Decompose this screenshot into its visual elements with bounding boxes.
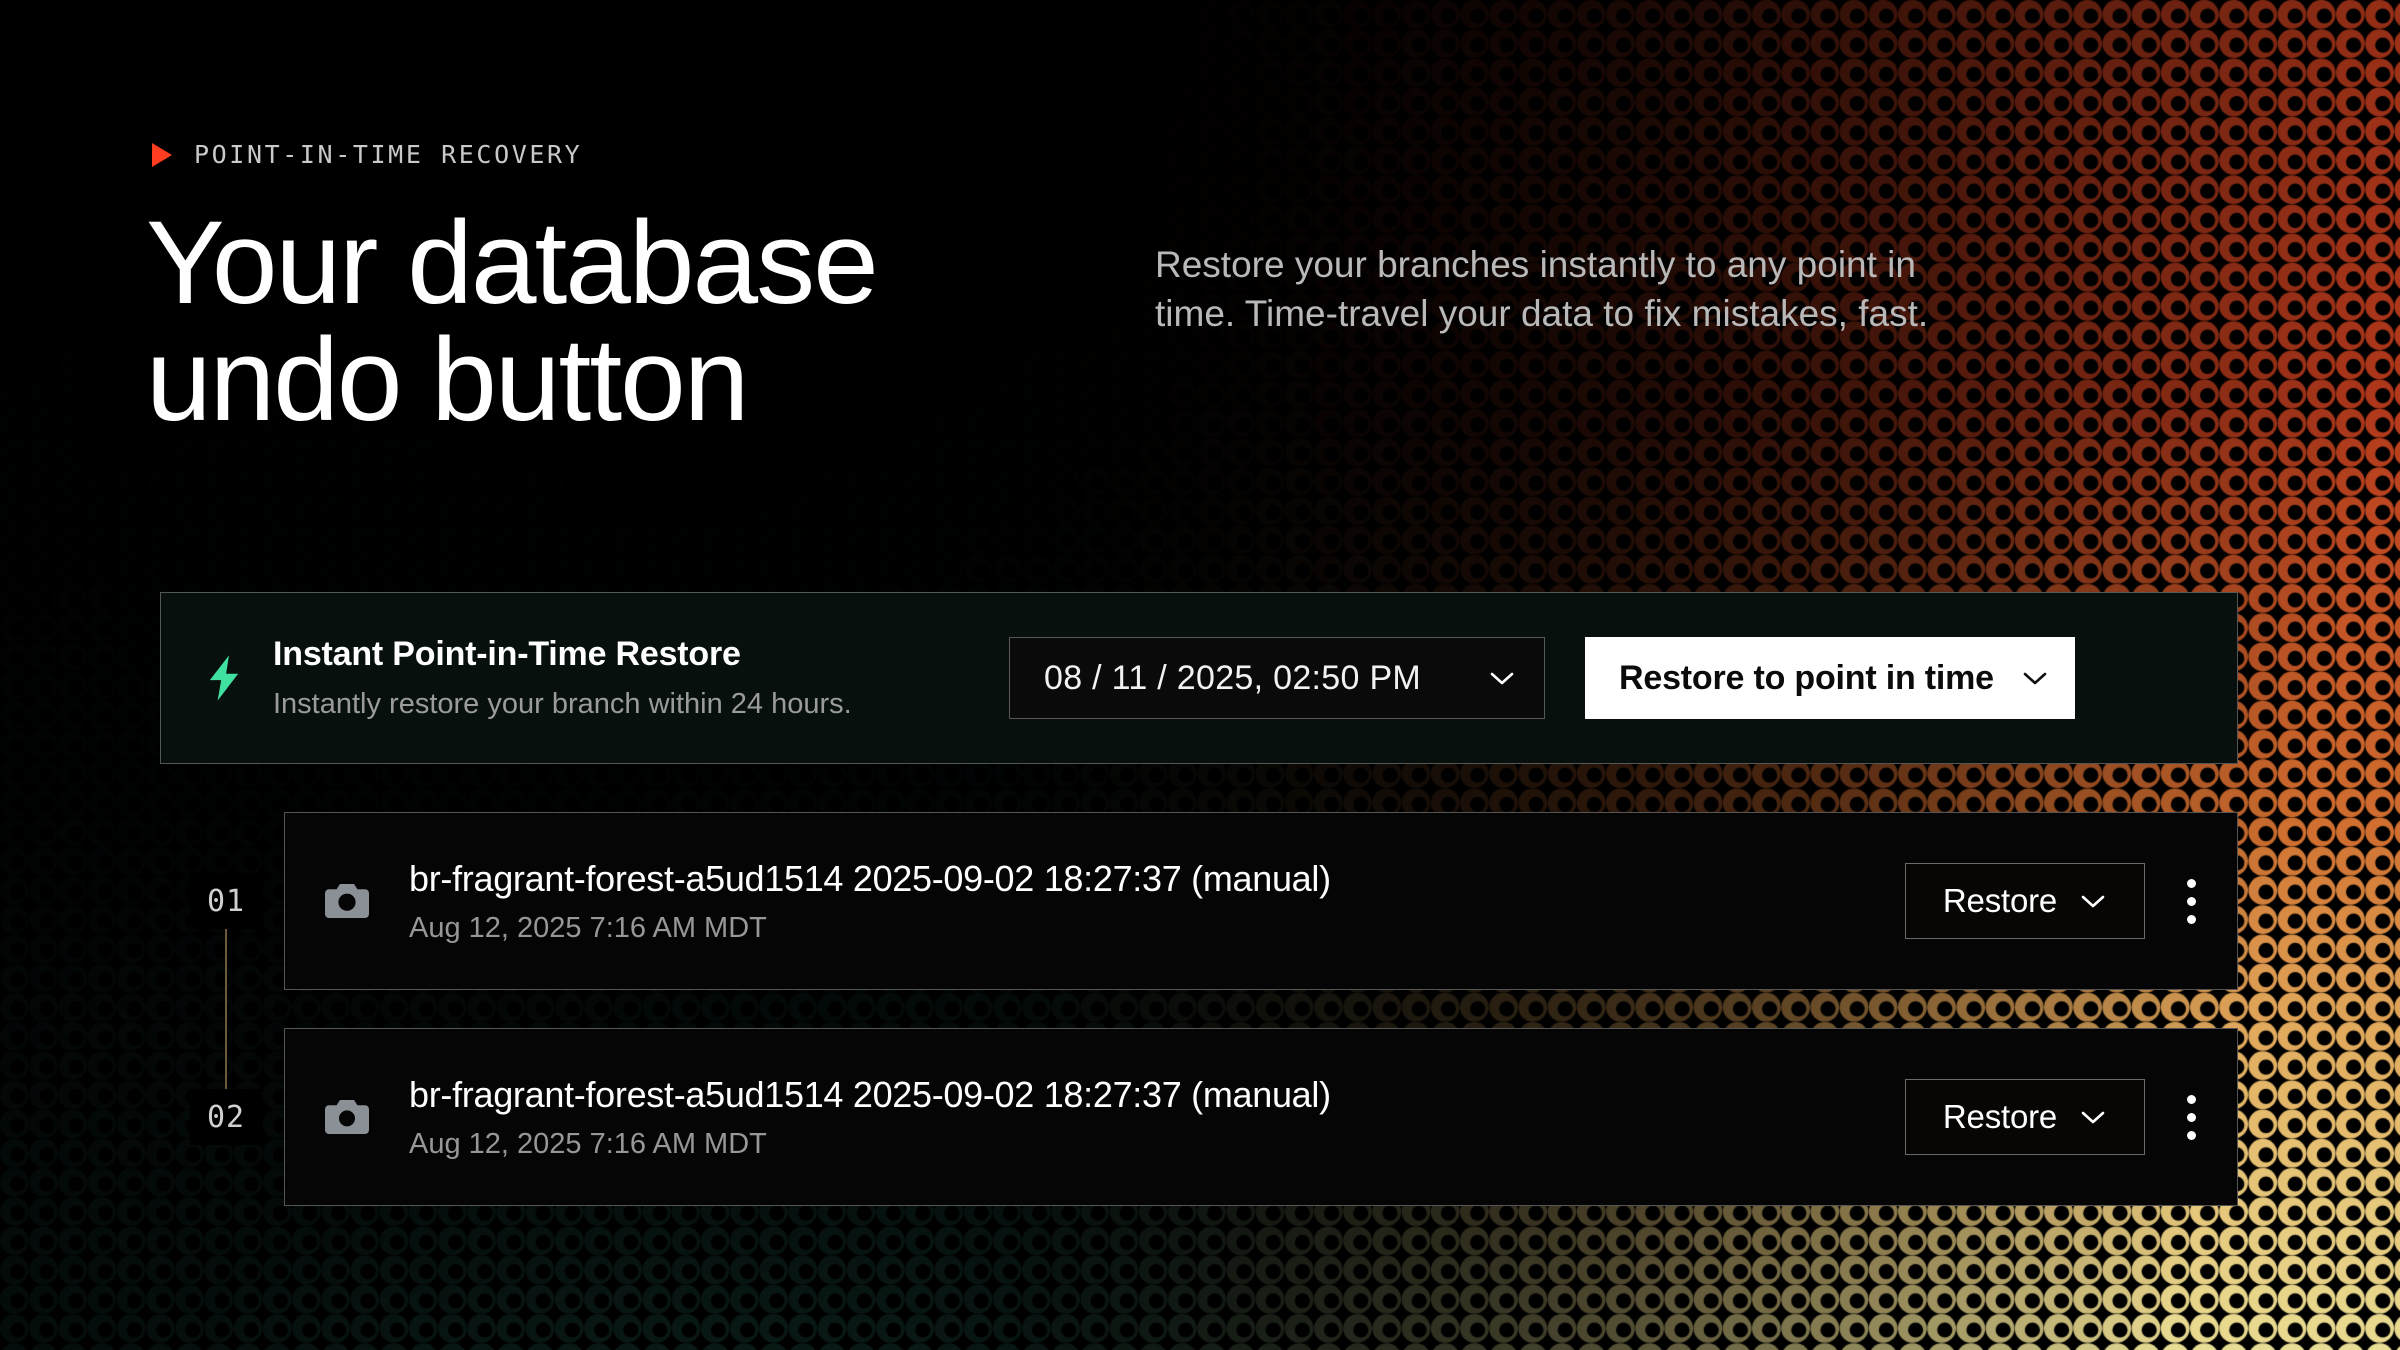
snapshot-timestamp: Aug 12, 2025 7:16 AM MDT [409, 1128, 1905, 1161]
step-index-label: 01 [207, 884, 245, 919]
camera-icon [285, 882, 409, 920]
instant-restore-subtitle: Instantly restore your branch within 24 … [273, 688, 1003, 721]
kebab-dot [2187, 915, 2196, 924]
instant-restore-text-block: Instant Point-in-Time Restore Instantly … [273, 635, 1003, 721]
eyebrow-label: POINT-IN-TIME RECOVERY [194, 140, 582, 169]
snapshot-row[interactable]: br-fragrant-forest-a5ud1514 2025-09-02 1… [284, 1028, 2238, 1206]
chevron-down-icon [2079, 893, 2107, 910]
step-index-marker: 02 [190, 1089, 262, 1145]
eyebrow: POINT-IN-TIME RECOVERY [152, 140, 582, 169]
step-connector-line [225, 929, 227, 1089]
hero-description: Restore your branches instantly to any p… [1155, 240, 1955, 338]
chevron-down-icon [2079, 1109, 2107, 1126]
step-index-marker: 01 [190, 873, 262, 929]
camera-glyph [325, 882, 369, 920]
restore-to-point-in-time-label: Restore to point in time [1619, 659, 1994, 698]
kebab-menu-icon[interactable] [2145, 879, 2237, 924]
restore-button-label: Restore [1943, 882, 2057, 920]
camera-icon [285, 1098, 409, 1136]
restore-to-point-in-time-button[interactable]: Restore to point in time [1585, 637, 2075, 719]
snapshot-text-block: br-fragrant-forest-a5ud1514 2025-09-02 1… [409, 1074, 1905, 1161]
datetime-picker-value: 08 / 11 / 2025, 02:50 PM [1044, 659, 1421, 698]
snapshot-title: br-fragrant-forest-a5ud1514 2025-09-02 1… [409, 858, 1905, 900]
snapshot-timestamp: Aug 12, 2025 7:16 AM MDT [409, 912, 1905, 945]
kebab-dot [2187, 1113, 2196, 1122]
kebab-dot [2187, 1131, 2196, 1140]
snapshot-text-block: br-fragrant-forest-a5ud1514 2025-09-02 1… [409, 858, 1905, 945]
kebab-dot [2187, 879, 2196, 888]
kebab-dot [2187, 897, 2196, 906]
step-index-label: 02 [207, 1100, 245, 1135]
chevron-down-icon [2021, 670, 2049, 687]
restore-button[interactable]: Restore [1905, 1079, 2145, 1155]
kebab-dot [2187, 1095, 2196, 1104]
lightning-bolt-glyph [207, 655, 241, 701]
play-triangle-icon [152, 143, 172, 167]
chevron-down-icon [1488, 670, 1516, 687]
lightning-bolt-icon [161, 655, 273, 701]
instant-restore-card: Instant Point-in-Time Restore Instantly … [160, 592, 2238, 764]
datetime-picker[interactable]: 08 / 11 / 2025, 02:50 PM [1009, 637, 1545, 719]
page-title: Your database undo button [146, 205, 1096, 439]
restore-button-label: Restore [1943, 1098, 2057, 1136]
restore-button[interactable]: Restore [1905, 863, 2145, 939]
snapshot-title: br-fragrant-forest-a5ud1514 2025-09-02 1… [409, 1074, 1905, 1116]
snapshot-row[interactable]: br-fragrant-forest-a5ud1514 2025-09-02 1… [284, 812, 2238, 990]
instant-restore-title: Instant Point-in-Time Restore [273, 635, 1003, 674]
kebab-menu-icon[interactable] [2145, 1095, 2237, 1140]
camera-glyph [325, 1098, 369, 1136]
